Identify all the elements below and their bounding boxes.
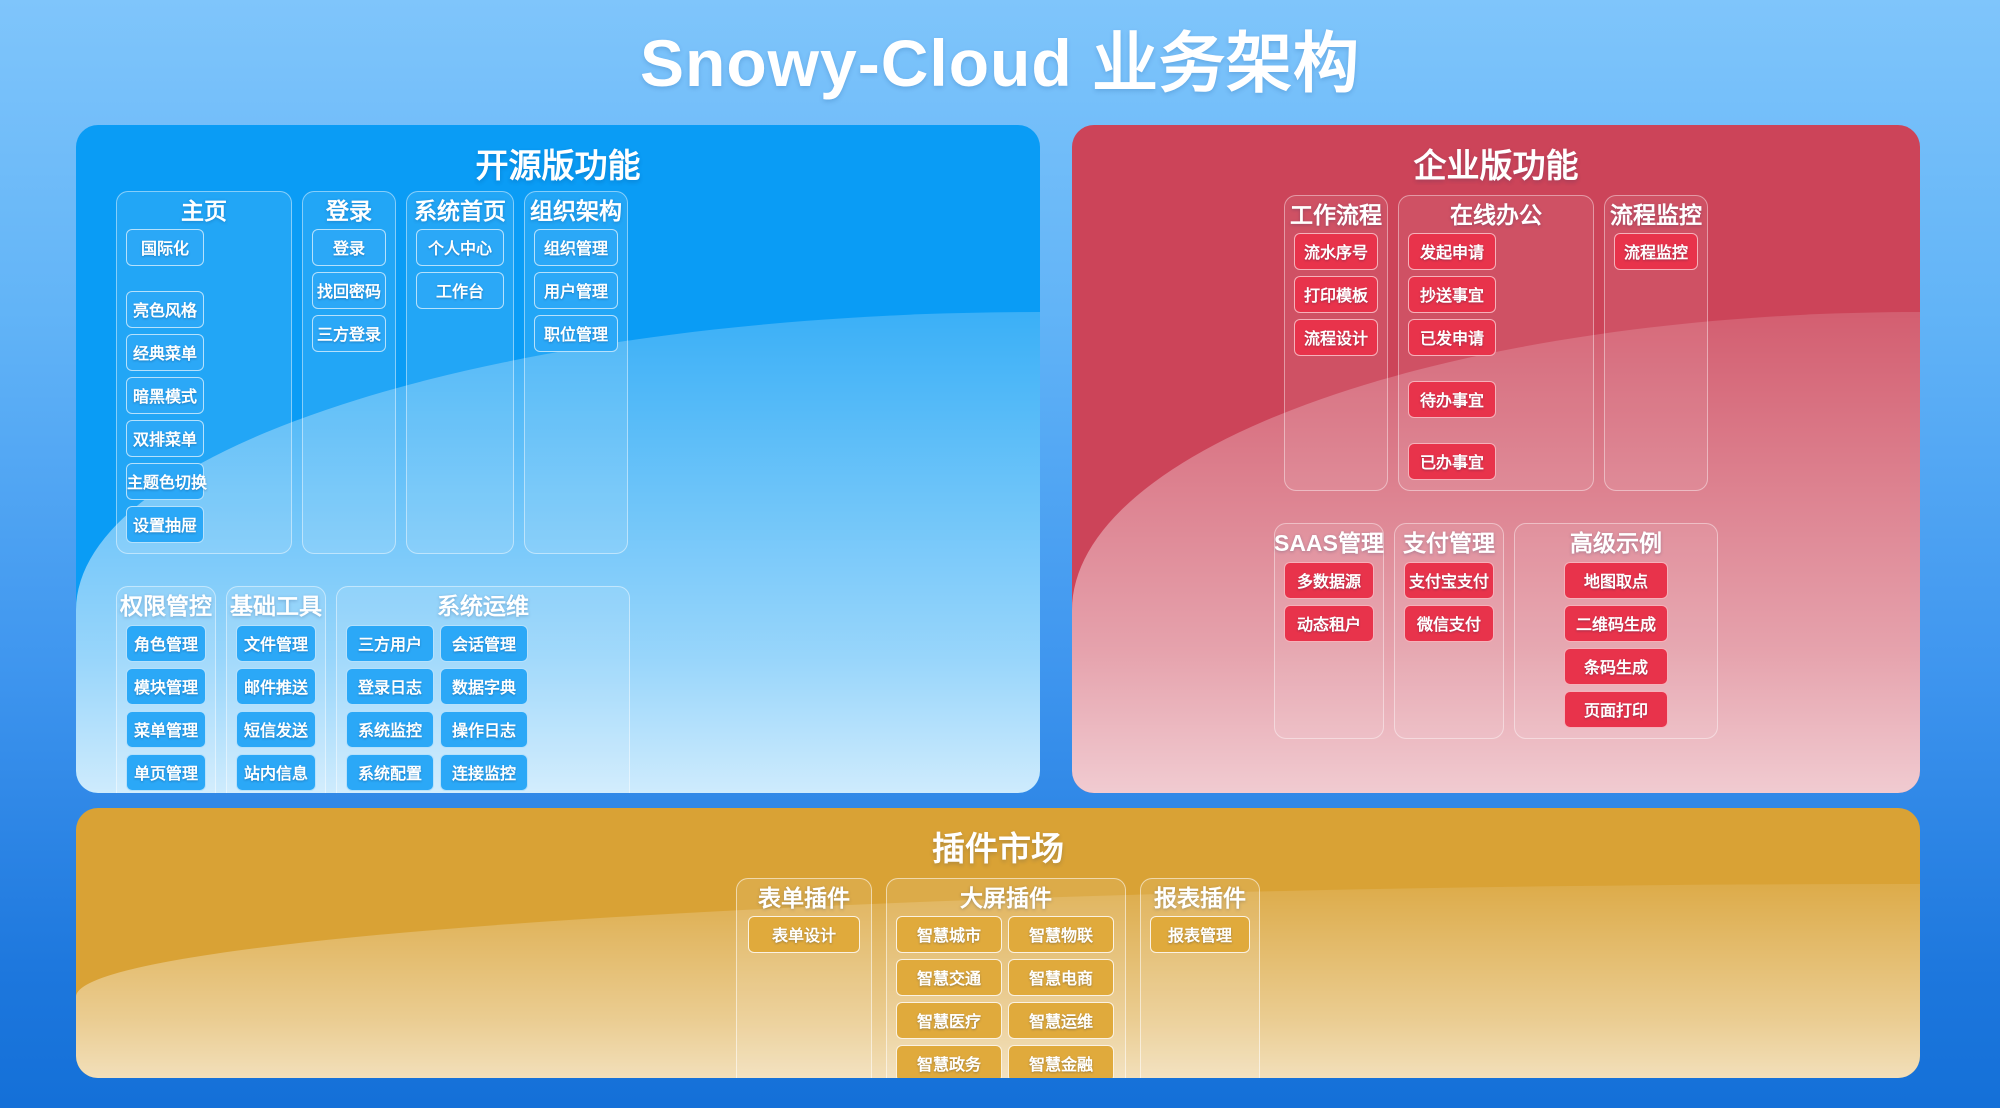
item-smart-government[interactable]: 智慧政务 (896, 1045, 1002, 1078)
item-report-management[interactable]: 报表管理 (1150, 916, 1250, 953)
group-advanced-examples: 高级示例 地图取点 二维码生成 条码生成 页面打印 (1514, 523, 1718, 738)
group-report-plugin: 报表插件 报表管理 (1140, 878, 1260, 1078)
item-single-page-management[interactable]: 单页管理 (126, 754, 206, 791)
group-title: 大屏插件 (960, 885, 1052, 911)
panel-title-plugin-market: 插件市场 (76, 808, 1920, 870)
item-login[interactable]: 登录 (312, 229, 386, 266)
item-multi-datasource[interactable]: 多数据源 (1284, 562, 1374, 599)
item-light-style[interactable]: 亮色风格 (126, 291, 204, 328)
group-title: 主页 (181, 198, 227, 224)
item-session-management[interactable]: 会话管理 (440, 625, 528, 662)
item-menu-management[interactable]: 菜单管理 (126, 711, 206, 748)
group-saas: SAAS管理 多数据源 动态租户 (1274, 523, 1384, 738)
item-smart-city[interactable]: 智慧城市 (896, 916, 1002, 953)
group-bigscreen-plugin: 大屏插件 智慧城市 智慧物联 智慧交通 智慧电商 智慧医疗 智慧运维 智慧政务 … (886, 878, 1126, 1078)
group-title: 系统首页 (414, 198, 506, 224)
group-title: 报表插件 (1154, 885, 1246, 911)
item-smart-medical[interactable]: 智慧医疗 (896, 1002, 1002, 1039)
panel-plugin-market: 插件市场 表单插件 表单设计 大屏插件 智慧城市 智慧物联 智慧交通 智慧电商 … (76, 808, 1920, 1078)
panel-open-source: 开源版功能 主页 国际化 亮色风格 经典菜单 暗黑模式 双排菜单 主题色切换 设… (76, 125, 1040, 793)
item-data-dictionary[interactable]: 数据字典 (440, 668, 528, 705)
panel-title-open-source: 开源版功能 (76, 125, 1040, 187)
group-title: 系统运维 (437, 593, 529, 619)
group-basic-tools: 基础工具 文件管理 邮件推送 短信发送 站内信息 (226, 586, 326, 793)
group-title: 组织架构 (530, 198, 622, 224)
group-permission: 权限管控 角色管理 模块管理 菜单管理 单页管理 (116, 586, 216, 793)
item-double-row-menu[interactable]: 双排菜单 (126, 420, 204, 457)
group-title: 流程监控 (1610, 202, 1702, 228)
item-settings-drawer[interactable]: 设置抽屉 (126, 506, 204, 543)
panel-enterprise: 企业版功能 工作流程 流水序号 打印模板 流程设计 在线办公 发起申请 抄送事宜… (1072, 125, 1920, 793)
group-home: 主页 国际化 亮色风格 经典菜单 暗黑模式 双排菜单 主题色切换 设置抽屉 (116, 191, 292, 554)
item-system-config[interactable]: 系统配置 (346, 754, 434, 791)
item-theme-color-switch[interactable]: 主题色切换 (126, 463, 204, 500)
group-payment: 支付管理 支付宝支付 微信支付 (1394, 523, 1504, 738)
item-email-push[interactable]: 邮件推送 (236, 668, 316, 705)
group-row: SAAS管理 多数据源 动态租户 支付管理 支付宝支付 微信支付 高级示例 地图… (1092, 523, 1900, 738)
group-title: 表单插件 (758, 885, 850, 911)
group-process-monitor: 流程监控 流程监控 (1604, 195, 1708, 491)
item-smart-ecommerce[interactable]: 智慧电商 (1008, 959, 1114, 996)
item-smart-ops[interactable]: 智慧运维 (1008, 1002, 1114, 1039)
group-organization: 组织架构 组织管理 用户管理 职位管理 (524, 191, 628, 554)
group-row: 主页 国际化 亮色风格 经典菜单 暗黑模式 双排菜单 主题色切换 设置抽屉 登录… (96, 191, 1020, 554)
group-workflow: 工作流程 流水序号 打印模板 流程设计 (1284, 195, 1388, 491)
item-operation-log[interactable]: 操作日志 (440, 711, 528, 748)
group-title: 登录 (326, 198, 372, 224)
item-dark-mode[interactable]: 暗黑模式 (126, 377, 204, 414)
item-user-management[interactable]: 用户管理 (534, 272, 618, 309)
group-login: 登录 登录 找回密码 三方登录 (302, 191, 396, 554)
item-connection-monitor[interactable]: 连接监控 (440, 754, 528, 791)
item-file-management[interactable]: 文件管理 (236, 625, 316, 662)
item-serial-number[interactable]: 流水序号 (1294, 233, 1378, 270)
item-process-design[interactable]: 流程设计 (1294, 319, 1378, 356)
item-login-log[interactable]: 登录日志 (346, 668, 434, 705)
group-title: 权限管控 (120, 593, 212, 619)
item-system-monitor[interactable]: 系统监控 (346, 711, 434, 748)
item-dynamic-tenant[interactable]: 动态租户 (1284, 605, 1374, 642)
item-page-print[interactable]: 页面打印 (1564, 691, 1668, 728)
group-row: 工作流程 流水序号 打印模板 流程设计 在线办公 发起申请 抄送事宜 已发申请 … (1092, 195, 1900, 491)
group-title: 高级示例 (1570, 530, 1662, 556)
item-completed-matters[interactable]: 已办事宜 (1408, 443, 1496, 480)
group-title: SAAS管理 (1274, 530, 1384, 556)
group-form-plugin: 表单插件 表单设计 (736, 878, 872, 1078)
item-print-template[interactable]: 打印模板 (1294, 276, 1378, 313)
page-title: Snowy-Cloud 业务架构 (0, 10, 2000, 106)
item-alipay[interactable]: 支付宝支付 (1404, 562, 1494, 599)
item-site-message[interactable]: 站内信息 (236, 754, 316, 791)
item-position-management[interactable]: 职位管理 (534, 315, 618, 352)
item-personal-center[interactable]: 个人中心 (416, 229, 504, 266)
item-cc-matters[interactable]: 抄送事宜 (1408, 276, 1496, 313)
item-barcode-generation[interactable]: 条码生成 (1564, 648, 1668, 685)
item-role-management[interactable]: 角色管理 (126, 625, 206, 662)
item-retrieve-password[interactable]: 找回密码 (312, 272, 386, 309)
item-third-party-login[interactable]: 三方登录 (312, 315, 386, 352)
item-smart-iot[interactable]: 智慧物联 (1008, 916, 1114, 953)
group-system-home: 系统首页 个人中心 工作台 (406, 191, 514, 554)
item-classic-menu[interactable]: 经典菜单 (126, 334, 204, 371)
item-smart-finance[interactable]: 智慧金融 (1008, 1045, 1114, 1078)
panel-title-enterprise: 企业版功能 (1072, 125, 1920, 187)
group-title: 基础工具 (230, 593, 322, 619)
item-pending-matters[interactable]: 待办事宜 (1408, 381, 1496, 418)
group-title: 工作流程 (1290, 202, 1382, 228)
item-process-monitor[interactable]: 流程监控 (1614, 233, 1698, 270)
item-qr-code-generation[interactable]: 二维码生成 (1564, 605, 1668, 642)
group-title: 支付管理 (1403, 530, 1495, 556)
group-row: 权限管控 角色管理 模块管理 菜单管理 单页管理 基础工具 文件管理 邮件推送 … (96, 586, 1020, 793)
item-internationalization[interactable]: 国际化 (126, 229, 204, 266)
item-smart-transport[interactable]: 智慧交通 (896, 959, 1002, 996)
item-sent-applications[interactable]: 已发申请 (1408, 319, 1496, 356)
item-sms-send[interactable]: 短信发送 (236, 711, 316, 748)
item-initiate-application[interactable]: 发起申请 (1408, 233, 1496, 270)
item-module-management[interactable]: 模块管理 (126, 668, 206, 705)
item-workbench[interactable]: 工作台 (416, 272, 504, 309)
group-title: 在线办公 (1450, 202, 1542, 228)
group-online-office: 在线办公 发起申请 抄送事宜 已发申请 待办事宜 已办事宜 (1398, 195, 1594, 491)
item-map-point-picker[interactable]: 地图取点 (1564, 562, 1668, 599)
group-system-ops: 系统运维 三方用户 会话管理 登录日志 数据字典 系统监控 操作日志 系统配置 … (336, 586, 630, 793)
item-wechat-pay[interactable]: 微信支付 (1404, 605, 1494, 642)
item-third-party-user[interactable]: 三方用户 (346, 625, 434, 662)
item-form-design[interactable]: 表单设计 (748, 916, 860, 953)
item-org-management[interactable]: 组织管理 (534, 229, 618, 266)
